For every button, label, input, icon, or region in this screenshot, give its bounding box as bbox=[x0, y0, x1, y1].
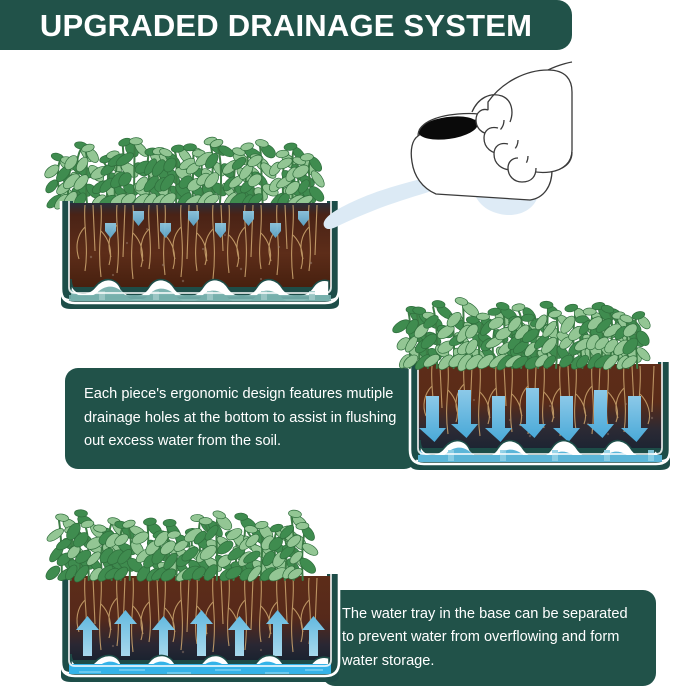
callout-tray: The water tray in the base can be separa… bbox=[322, 590, 656, 686]
planter-cross-section-draining bbox=[404, 300, 676, 472]
planter-cross-section-water-storage bbox=[55, 512, 345, 684]
infographic-canvas: UPGRADED DRAINAGE SYSTEM bbox=[0, 0, 679, 691]
header-banner: UPGRADED DRAINAGE SYSTEM bbox=[0, 0, 572, 50]
hand-pouring-watering-can bbox=[322, 58, 572, 243]
foliage-group bbox=[42, 136, 326, 212]
planter-cross-section-watering bbox=[55, 139, 345, 311]
callout-drainage-text: Each piece's ergonomic design features m… bbox=[84, 383, 401, 454]
callout-drainage: Each piece's ergonomic design features m… bbox=[65, 368, 417, 469]
page-title: UPGRADED DRAINAGE SYSTEM bbox=[40, 10, 532, 41]
callout-tray-text: The water tray in the base can be separa… bbox=[342, 603, 640, 674]
